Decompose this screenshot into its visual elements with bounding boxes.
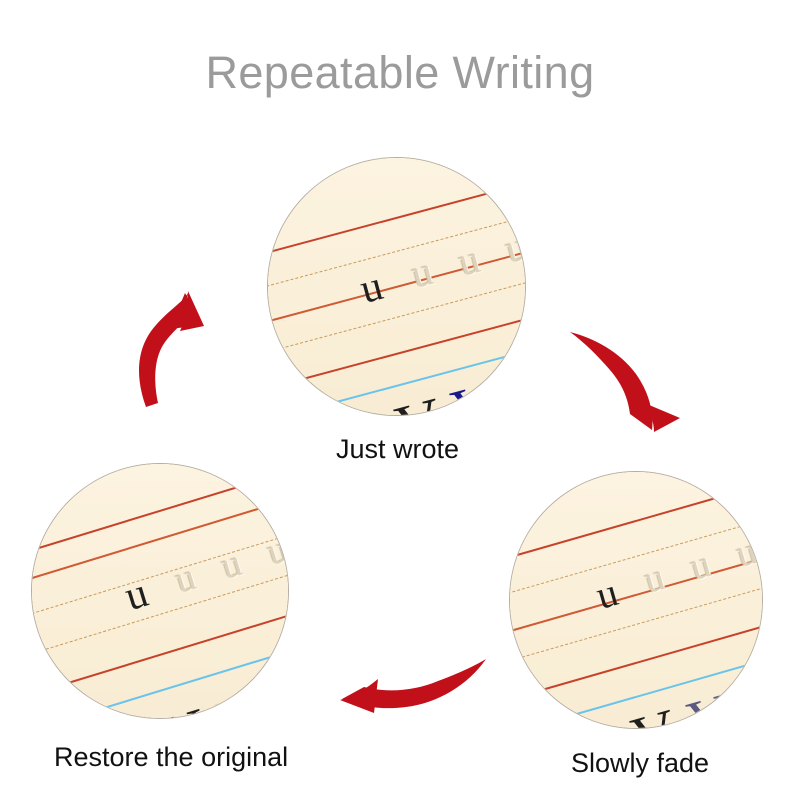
arrow-slowly-fade-to-restore xyxy=(330,655,490,725)
arrow-restore-to-just-wrote xyxy=(130,285,260,410)
infographic-canvas: Repeatable Writing u u u u u V xyxy=(0,0,800,800)
step-photo-just-wrote: u u u u u V V V V V xyxy=(268,158,525,415)
step-photo-slowly-fade: u u u u u V V V V V V V xyxy=(510,472,762,728)
step-photo-restore-the-original: u u u u u V V V V V xyxy=(32,464,288,718)
page-title: Repeatable Writing xyxy=(0,48,800,98)
caption-restore-the-original: Restore the original xyxy=(54,742,288,773)
caption-slowly-fade: Slowly fade xyxy=(571,748,709,779)
arrow-just-wrote-to-slowly-fade xyxy=(568,330,698,455)
caption-just-wrote: Just wrote xyxy=(336,434,459,465)
